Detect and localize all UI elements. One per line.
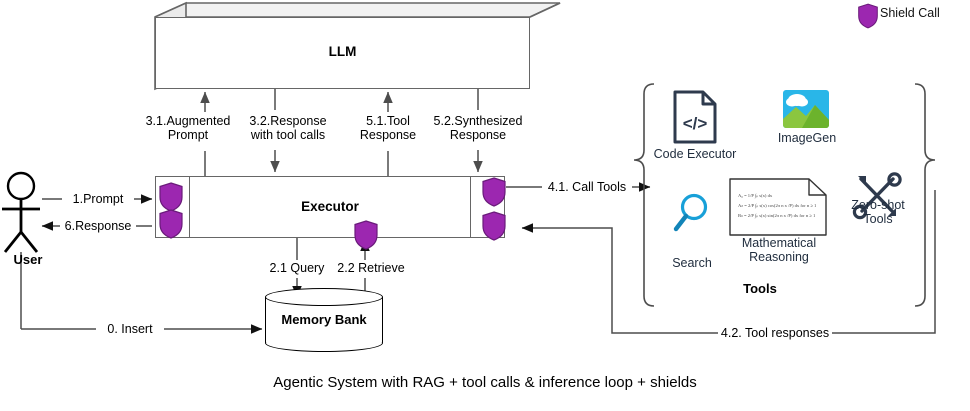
formula-document-icon[interactable]: A₀ = 1/P ∫ₚ s(x) dx Aₙ = 2/P ∫ₚ s(x) cos…	[729, 178, 827, 236]
node-executor[interactable]: Executor	[155, 176, 505, 238]
tool-label-search: Search	[657, 256, 727, 270]
node-memory-bank-label: Memory Bank	[265, 312, 383, 327]
edge-label-call-tools: 4.1. Call Tools	[542, 180, 632, 194]
edge-label-response: 6.Response	[60, 219, 136, 233]
tool-label-mathematical-reasoning: Mathematical Reasoning	[723, 236, 835, 264]
node-llm-label: LLM	[155, 44, 530, 59]
tool-label-code-executor: Code Executor	[650, 147, 740, 161]
edge-label-retrieve: 2.2 Retrieve	[332, 261, 410, 275]
svg-text:</>: </>	[683, 114, 708, 133]
tool-label-imagegen: ImageGen	[766, 131, 848, 145]
shield-icon-tool-call[interactable]	[481, 177, 507, 207]
tools-group-label: Tools	[700, 281, 820, 296]
edge-label-prompt: 1.Prompt	[62, 192, 134, 206]
magnifier-icon[interactable]	[672, 192, 712, 234]
shield-icon-legend	[857, 3, 879, 29]
edge-label-tool-responses: 4.2. Tool responses	[718, 326, 832, 340]
legend-label: Shield Call	[880, 6, 940, 20]
edge-label-insert: 0. Insert	[96, 322, 164, 336]
node-memory-bank[interactable]: Memory Bank	[265, 288, 383, 352]
node-user-label: User	[0, 252, 56, 267]
cylinder-top	[265, 288, 383, 306]
shield-icon-output-response[interactable]	[158, 209, 184, 239]
shield-icon-input-prompt[interactable]	[158, 182, 184, 212]
diagram-caption: Agentic System with RAG + tool calls & i…	[0, 374, 970, 391]
edge-label-query: 2.1 Query	[262, 261, 332, 275]
edge-label-response-with-tool-calls: 3.2.Response with tool calls	[238, 114, 338, 142]
image-icon[interactable]	[782, 89, 830, 129]
shield-icon-memory-retrieve[interactable]	[353, 220, 379, 250]
edge-label-synthesized-response: 5.2.Synthesized Response	[428, 114, 528, 142]
edge-label-tool-response: 5.1.Tool Response	[345, 114, 431, 142]
node-executor-label: Executor	[156, 199, 504, 214]
edge-label-augmented-prompt: 3.1.Augmented Prompt	[142, 114, 234, 142]
code-document-icon[interactable]: </>	[672, 89, 718, 145]
tool-label-zero-shot-tools: Zero-shot Tools	[841, 198, 915, 226]
diagram-canvas: LLM Executor Memory Bank User 1.Prompt 6…	[0, 0, 970, 411]
shield-icon-tool-response[interactable]	[481, 211, 507, 241]
